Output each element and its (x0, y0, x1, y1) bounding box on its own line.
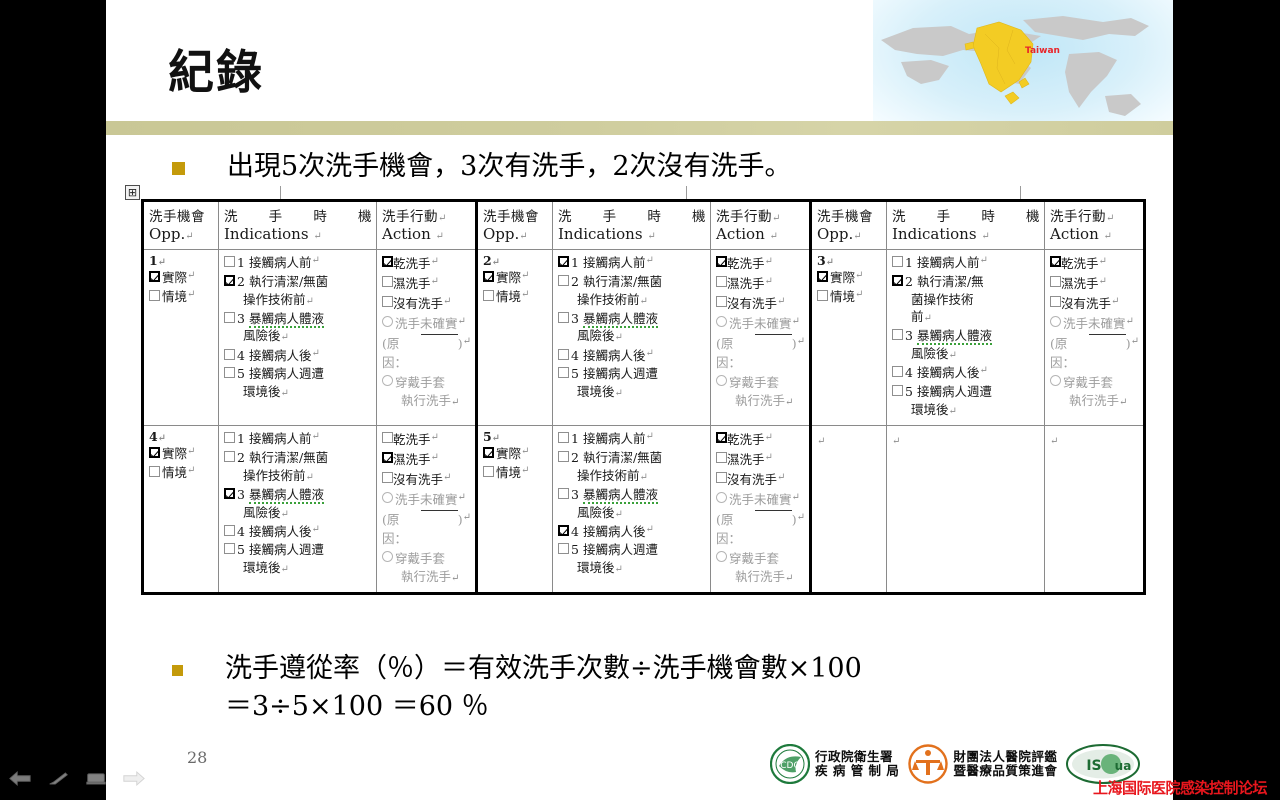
checkbox-unchecked[interactable] (1050, 276, 1061, 287)
action-option[interactable]: 濕洗手↵ (382, 274, 471, 293)
action-option[interactable]: 乾洗手↵ (1050, 254, 1139, 273)
cell-opportunity[interactable]: 2↵實際↵情境↵ (477, 250, 553, 426)
cell-indications[interactable]: 1 接觸病人前↵2 執行清潔/無菌操作技術前↵3 暴觸病人體液風險後↵4 接觸病… (219, 426, 377, 594)
action-label: 濕洗手 (727, 450, 765, 469)
pilcrow-mark: ↵ (313, 231, 321, 242)
letterbox-left (0, 0, 106, 800)
action-option[interactable]: 沒有洗手↵ (382, 470, 471, 489)
indication-option[interactable]: 2 執行清潔/無菌 (224, 449, 372, 467)
indication-label: 4 接觸病人後 (905, 364, 979, 382)
pilcrow-mark: ↵ (463, 510, 471, 525)
indication-label-cont: 風險後↵ (224, 504, 372, 522)
indication-label-cont: 操作技術前↵ (558, 291, 706, 309)
checkbox-checked[interactable] (224, 275, 235, 286)
checkbox-unchecked[interactable] (558, 275, 569, 286)
formula-line-2: ＝3÷5×100 ＝60 ％ (225, 690, 862, 724)
table-row[interactable]: 4↵實際↵情境↵1 接觸病人前↵2 執行清潔/無菌操作技術前↵3 暴觸病人體液風… (143, 426, 1145, 594)
pilcrow-mark: ↵ (853, 231, 861, 242)
action-label: 沒有洗手 (393, 294, 443, 313)
indication-label-cont: 環境後↵ (892, 401, 1040, 419)
opportunity-actual[interactable]: 實際↵ (483, 269, 548, 287)
action-reason[interactable]: (原因：)↵ (716, 334, 805, 372)
indication-label-cont: 風險後↵ (892, 345, 1040, 363)
checkbox-checked[interactable] (382, 256, 393, 267)
indication-option[interactable]: 5 接觸病人週遭 (558, 365, 706, 383)
action-label: 穿戴手套 (729, 373, 779, 392)
svg-text:IS: IS (1087, 758, 1102, 774)
checkbox-unchecked[interactable] (483, 290, 494, 301)
header-indications: 洗手時機Indications ↵ (219, 201, 377, 250)
indication-option[interactable]: 3 暴觸病人體液 (892, 327, 1040, 345)
action-label: 沒有洗手 (727, 470, 777, 489)
indication-label: 1 接觸病人前 (237, 254, 311, 272)
checkbox-unchecked[interactable] (224, 312, 235, 323)
indication-option[interactable]: 3 暴觸病人體液 (224, 310, 372, 328)
svg-text:ua: ua (1115, 759, 1132, 773)
header-opportunity-cn: 洗手機會 (817, 205, 882, 225)
checkbox-unchecked[interactable] (382, 472, 393, 483)
pilcrow-mark: ↵ (187, 269, 195, 283)
action-label: 沒有洗手 (727, 294, 777, 313)
hand-hygiene-observation-table[interactable]: 洗手機會Opp.↵洗手時機Indications ↵洗手行動↵Action ↵洗… (141, 199, 1146, 595)
cell-indications[interactable]: 1 接觸病人前↵2 執行清潔/無菌操作技術前↵3 暴觸病人體液風險後↵4 接觸病… (553, 426, 711, 594)
indication-label: 2 執行清潔/無菌 (237, 273, 328, 291)
opportunity-number: 2↵ (483, 253, 548, 268)
pilcrow-mark: ↵ (158, 257, 166, 268)
cell-action[interactable]: 乾洗手↵濕洗手↵沒有洗手↵洗手未確實↵(原因：)↵穿戴手套執行洗手↵ (1045, 250, 1145, 426)
pilcrow-mark: ↵ (981, 231, 989, 242)
pilcrow-mark: ↵ (521, 464, 529, 478)
opportunity-number: 5↵ (483, 429, 548, 444)
action-label: 洗手未確實 (395, 314, 458, 333)
cell-action-empty[interactable]: ↵ (1045, 426, 1145, 594)
checkbox-unchecked[interactable] (224, 451, 235, 462)
action-label-cont: 執行洗手↵ (1050, 392, 1139, 410)
pilcrow-mark: ↵ (645, 523, 653, 537)
title-divider (106, 121, 1173, 135)
opportunity-scenario[interactable]: 情境↵ (149, 288, 214, 306)
radio-unselected[interactable] (1050, 375, 1061, 386)
checkbox-unchecked[interactable] (558, 543, 569, 554)
map-region-label: Taiwan (1025, 46, 1060, 56)
tjc-logo: 財團法人醫院評鑑 暨醫療品質策進會 (908, 744, 1057, 784)
indication-label-cont: 環境後↵ (558, 383, 706, 401)
pilcrow-mark: ↵ (645, 254, 653, 268)
action-option[interactable]: 乾洗手↵ (382, 430, 471, 449)
slide-canvas: Taiwan 紀錄 出現5次洗手機會，3次有洗手，2次沒有洗手。 ⊞ 洗手機會O… (106, 0, 1173, 800)
indication-label: 1 接觸病人前 (571, 430, 645, 448)
action-reason-prefix: (原因： (382, 334, 421, 372)
header-action-cn: 洗手行動↵ (1050, 205, 1139, 225)
pilcrow-mark: ↵ (306, 296, 314, 307)
pilcrow-mark: ↵ (521, 269, 529, 283)
header-action: 洗手行動↵Action ↵ (1045, 201, 1145, 250)
pilcrow-mark: ↵ (797, 334, 805, 349)
action-reason[interactable]: (原因：)↵ (382, 510, 471, 548)
pilcrow-mark: ↵ (311, 430, 319, 444)
checkbox-unchecked[interactable] (716, 452, 727, 463)
checkbox-unchecked[interactable] (224, 256, 235, 267)
header-opportunity-cn: 洗手機會 (483, 205, 548, 225)
opportunity-actual[interactable]: 實際↵ (149, 445, 214, 463)
table-header-row: 洗手機會Opp.↵洗手時機Indications ↵洗手行動↵Action ↵洗… (143, 201, 1145, 250)
pilcrow-mark: ↵ (521, 288, 529, 302)
radio-unselected[interactable] (716, 316, 727, 327)
pilcrow-mark: ↵ (640, 296, 648, 307)
cell-action[interactable]: 乾洗手↵濕洗手↵沒有洗手↵洗手未確實↵(原因：)↵穿戴手套執行洗手↵ (711, 426, 811, 594)
action-reason-prefix: (原因： (1050, 334, 1089, 372)
radio-unselected[interactable] (716, 375, 727, 386)
cell-indications[interactable]: 1 接觸病人前↵2 執行清潔/無菌操作技術前↵3 暴觸病人體液風險後↵4 接觸病… (553, 250, 711, 426)
checkbox-unchecked[interactable] (716, 472, 727, 483)
indication-option[interactable]: 5 接觸病人週遭 (892, 383, 1040, 401)
action-label: 洗手未確實 (729, 314, 792, 333)
opportunity-actual[interactable]: 實際↵ (149, 269, 214, 287)
pilcrow-mark: ↵ (451, 573, 459, 584)
checkbox-checked[interactable] (716, 432, 727, 443)
checkbox-checked[interactable] (224, 488, 235, 499)
indication-label: 4 接觸病人後 (237, 523, 311, 541)
cell-opportunity[interactable]: 1↵實際↵情境↵ (143, 250, 219, 426)
cell-action[interactable]: 乾洗手↵濕洗手↵沒有洗手↵洗手未確實↵(原因：)↵穿戴手套執行洗手↵ (377, 426, 477, 594)
pilcrow-mark: ↵ (855, 288, 863, 302)
pilcrow-mark: ↵ (431, 450, 439, 465)
checkbox-checked[interactable] (483, 447, 494, 458)
world-map-graphic: Taiwan (873, 0, 1173, 122)
pilcrow-mark: ↵ (817, 436, 825, 447)
opportunity-actual[interactable]: 實際↵ (483, 445, 548, 463)
header-action-en: Action ↵ (382, 225, 471, 243)
indication-label: 4 接觸病人後 (571, 523, 645, 541)
checkbox-checked[interactable] (716, 256, 727, 267)
action-option[interactable]: 濕洗手↵ (716, 450, 805, 469)
action-reason-prefix: (原因： (382, 510, 421, 548)
table-row[interactable]: 1↵實際↵情境↵1 接觸病人前↵2 執行清潔/無菌操作技術前↵3 暴觸病人體液風… (143, 250, 1145, 426)
indication-option[interactable]: 5 接觸病人週遭 (224, 365, 372, 383)
action-option[interactable]: 洗手未確實↵ (716, 314, 805, 333)
cell-indications-empty[interactable]: ↵ (887, 426, 1045, 594)
checkbox-unchecked[interactable] (224, 367, 235, 378)
action-option[interactable]: 穿戴手套 (382, 373, 471, 392)
page-title: 紀錄 (168, 36, 264, 102)
pilcrow-mark: ↵ (645, 347, 653, 361)
indication-label: 2 執行清潔/無菌 (237, 449, 328, 467)
checkbox-checked[interactable] (382, 452, 393, 463)
checkbox-unchecked[interactable] (149, 466, 160, 477)
cell-opportunity[interactable]: 5↵實際↵情境↵ (477, 426, 553, 594)
slideshow-nav[interactable] (8, 770, 146, 787)
radio-unselected[interactable] (1050, 316, 1061, 327)
opportunity-actual-label: 實際 (830, 269, 855, 287)
cell-indications[interactable]: 1 接觸病人前↵2 執行清潔/無菌操作技術前↵3 暴觸病人體液風險後↵4 接觸病… (887, 250, 1045, 426)
header-action-cn: 洗手行動↵ (716, 205, 805, 225)
cell-opportunity[interactable]: 4↵實際↵情境↵ (143, 426, 219, 594)
checkbox-unchecked[interactable] (716, 276, 727, 287)
indication-label: 3 暴觸病人體液 (571, 486, 658, 504)
header-opportunity: 洗手機會Opp.↵ (811, 201, 887, 250)
pilcrow-mark: ↵ (647, 231, 655, 242)
checkbox-checked[interactable] (149, 271, 160, 282)
svg-text:CDC: CDC (780, 761, 800, 771)
pilcrow-mark: ↵ (519, 231, 527, 242)
action-option[interactable]: 洗手未確實↵ (382, 314, 471, 333)
indication-label-cont: 操作技術前↵ (224, 291, 372, 309)
radio-unselected[interactable] (382, 375, 393, 386)
pilcrow-mark: ↵ (1099, 274, 1107, 289)
bullet-square-icon (172, 665, 183, 676)
action-option[interactable]: 穿戴手套 (716, 549, 805, 568)
action-label: 乾洗手 (1061, 254, 1099, 273)
action-option[interactable]: 乾洗手↵ (716, 254, 805, 273)
pilcrow-mark: ↵ (777, 470, 785, 485)
opportunity-scenario-label: 情境 (496, 288, 521, 306)
page-number: 28 (187, 748, 207, 767)
action-option[interactable]: 洗手未確實↵ (382, 490, 471, 509)
indication-label: 2 執行清潔/無 (905, 273, 984, 291)
checkbox-unchecked[interactable] (1050, 296, 1061, 307)
indication-label-cont: 環境後↵ (224, 559, 372, 577)
radio-unselected[interactable] (716, 492, 727, 503)
header-opportunity-cn: 洗手機會 (149, 205, 214, 225)
checkbox-unchecked[interactable] (149, 290, 160, 301)
indication-option[interactable]: 2 執行清潔/無菌 (558, 273, 706, 291)
action-option[interactable]: 濕洗手↵ (716, 274, 805, 293)
bullet-square-icon (172, 162, 185, 175)
checkbox-checked[interactable] (817, 271, 828, 282)
pilcrow-mark: ↵ (640, 472, 648, 483)
prev-arrow-icon[interactable] (8, 770, 32, 787)
header-indications-cn: 洗手時機 (224, 205, 372, 225)
action-option[interactable]: 穿戴手套 (1050, 373, 1139, 392)
action-option[interactable]: 乾洗手↵ (716, 430, 805, 449)
action-reason-blank[interactable] (755, 334, 792, 335)
checkbox-unchecked[interactable] (558, 312, 569, 323)
checkbox-unchecked[interactable] (224, 543, 235, 554)
pilcrow-mark: ↵ (949, 406, 957, 417)
indication-option[interactable]: 2 執行清潔/無菌 (224, 273, 372, 291)
checkbox-unchecked[interactable] (558, 432, 569, 443)
indication-option[interactable]: 1 接觸病人前↵ (224, 254, 372, 272)
checkbox-unchecked[interactable] (892, 366, 903, 377)
action-option[interactable]: 乾洗手↵ (382, 254, 471, 273)
cdc-logo: CDC 行政院衛生署 疾 病 管 制 局 (770, 744, 899, 784)
footer-logos: CDC 行政院衛生署 疾 病 管 制 局 財團法人醫院評鑑 暨醫療品質策進會 (770, 744, 1140, 784)
opportunity-number: 3↵ (817, 253, 882, 268)
indication-label-cont: 前↵ (892, 308, 1040, 326)
indication-label-cont: 風險後↵ (558, 327, 706, 345)
action-option[interactable]: 濕洗手↵ (1050, 274, 1139, 293)
action-option[interactable]: 洗手未確實↵ (716, 490, 805, 509)
pilcrow-mark: ↵ (431, 430, 439, 445)
indication-option[interactable]: 2 執行清潔/無 (892, 273, 1040, 291)
indication-option[interactable]: 5 接觸病人週遭 (558, 541, 706, 559)
pilcrow-mark: ↵ (492, 257, 500, 268)
pilcrow-mark: ↵ (777, 294, 785, 309)
opportunity-number: 1↵ (149, 253, 214, 268)
pilcrow-mark: ↵ (797, 510, 805, 525)
pilcrow-mark: ↵ (431, 254, 439, 269)
action-option[interactable]: 沒有洗手↵ (716, 294, 805, 313)
pilcrow-mark: ↵ (311, 347, 319, 361)
checkbox-unchecked[interactable] (224, 525, 235, 536)
checkbox-unchecked[interactable] (224, 432, 235, 443)
indication-option[interactable]: 3 暴觸病人體液 (224, 486, 372, 504)
indication-label: 5 接觸病人週遭 (571, 365, 658, 383)
slide-viewer: Taiwan 紀錄 出現5次洗手機會，3次有洗手，2次沒有洗手。 ⊞ 洗手機會O… (0, 0, 1280, 800)
pilcrow-mark: ↵ (1131, 334, 1139, 349)
checkbox-unchecked[interactable] (382, 432, 393, 443)
ruler-tick (686, 186, 687, 199)
checkbox-unchecked[interactable] (892, 385, 903, 396)
action-option[interactable]: 穿戴手套 (716, 373, 805, 392)
header-indications-cn: 洗手時機 (558, 205, 706, 225)
action-label: 穿戴手套 (1063, 373, 1113, 392)
indication-label: 5 接觸病人週遭 (905, 383, 992, 401)
indication-option[interactable]: 3 暴觸病人體液 (558, 486, 706, 504)
action-option[interactable]: 濕洗手↵ (382, 450, 471, 469)
pilcrow-mark: ↵ (765, 450, 773, 465)
action-label: 洗手未確實 (729, 490, 792, 509)
opportunity-scenario-label: 情境 (162, 288, 187, 306)
pilcrow-mark: ↵ (645, 430, 653, 444)
cell-action[interactable]: 乾洗手↵濕洗手↵沒有洗手↵洗手未確實↵(原因：)↵穿戴手套執行洗手↵ (377, 250, 477, 426)
indication-option[interactable]: 4 接觸病人後↵ (224, 523, 372, 541)
action-reason[interactable]: (原因：)↵ (382, 334, 471, 372)
opportunity-actual-label: 實際 (496, 269, 521, 287)
action-option[interactable]: 沒有洗手↵ (382, 294, 471, 313)
indication-label: 2 執行清潔/無菌 (571, 449, 662, 467)
indication-option[interactable]: 4 接觸病人後↵ (892, 364, 1040, 382)
action-option[interactable]: 沒有洗手↵ (1050, 294, 1139, 313)
header-indications-en: Indications ↵ (558, 225, 706, 243)
indication-label-cont: 環境後↵ (558, 559, 706, 577)
checkbox-checked[interactable] (1050, 256, 1061, 267)
next-arrow-icon[interactable] (122, 770, 146, 787)
action-option[interactable]: 穿戴手套 (382, 549, 471, 568)
action-reason-blank[interactable] (1089, 334, 1126, 335)
checkbox-unchecked[interactable] (716, 296, 727, 307)
checkbox-unchecked[interactable] (558, 451, 569, 462)
action-reason-blank[interactable] (755, 510, 792, 511)
pilcrow-mark: ↵ (492, 433, 500, 444)
pen-icon[interactable] (46, 770, 70, 787)
header-opportunity: 洗手機會Opp.↵ (143, 201, 219, 250)
radio-unselected[interactable] (382, 492, 393, 503)
screen-icon[interactable] (84, 770, 108, 787)
checkbox-checked[interactable] (558, 256, 569, 267)
indication-option[interactable]: 1 接觸病人前↵ (224, 430, 372, 448)
action-reason-prefix: (原因： (716, 334, 755, 372)
pilcrow-mark: ↵ (924, 313, 932, 324)
pilcrow-mark: ↵ (855, 269, 863, 283)
bullet-statement: 出現5次洗手機會，3次有洗手，2次沒有洗手。 (172, 150, 792, 184)
radio-unselected[interactable] (382, 551, 393, 562)
checkbox-unchecked[interactable] (558, 488, 569, 499)
checkbox-unchecked[interactable] (558, 349, 569, 360)
pilcrow-mark: ↵ (1104, 231, 1112, 242)
action-reason-prefix: (原因： (716, 510, 755, 548)
cdc-logo-line2: 疾 病 管 制 局 (815, 764, 899, 778)
pilcrow-mark: ↵ (431, 274, 439, 289)
action-reason-blank[interactable] (421, 510, 458, 511)
table-move-handle[interactable]: ⊞ (125, 185, 140, 200)
cell-opportunity[interactable]: 3↵實際↵情境↵ (811, 250, 887, 426)
header-opportunity-en: Opp.↵ (149, 225, 214, 243)
header-indications-en: Indications ↵ (224, 225, 372, 243)
checkbox-unchecked[interactable] (483, 466, 494, 477)
indication-option[interactable]: 1 接觸病人前↵ (892, 254, 1040, 272)
indication-option[interactable]: 5 接觸病人週遭 (224, 541, 372, 559)
letterbox-right (1173, 0, 1280, 800)
checkbox-checked[interactable] (483, 271, 494, 282)
checkbox-unchecked[interactable] (382, 296, 393, 307)
checkbox-unchecked[interactable] (892, 329, 903, 340)
action-reason-blank[interactable] (421, 334, 458, 335)
checkbox-checked[interactable] (149, 447, 160, 458)
bullet-statement-text: 出現5次洗手機會，3次有洗手，2次沒有洗手。 (227, 150, 792, 184)
pilcrow-mark: ↵ (438, 213, 447, 224)
indication-label: 1 接觸病人前 (237, 430, 311, 448)
pilcrow-mark: ↵ (451, 397, 459, 408)
radio-unselected[interactable] (716, 551, 727, 562)
indication-option[interactable]: 4 接觸病人後↵ (224, 347, 372, 365)
opportunity-actual[interactable]: 實際↵ (817, 269, 882, 287)
opportunity-scenario[interactable]: 情境↵ (149, 464, 214, 482)
cell-action[interactable]: 乾洗手↵濕洗手↵沒有洗手↵洗手未確實↵(原因：)↵穿戴手套執行洗手↵ (711, 250, 811, 426)
radio-unselected[interactable] (382, 316, 393, 327)
pilcrow-mark: ↵ (281, 509, 289, 520)
cell-opportunity-empty[interactable]: ↵ (811, 426, 887, 594)
indication-option[interactable]: 3 暴觸病人體液 (558, 310, 706, 328)
indication-option[interactable]: 1 接觸病人前↵ (558, 430, 706, 448)
compliance-formula: 洗手遵從率（％）＝有效洗手次數÷洗手機會數×100 ＝3÷5×100 ＝60 ％ (172, 652, 862, 724)
header-opportunity-en: Opp.↵ (817, 225, 882, 243)
checkbox-checked[interactable] (892, 275, 903, 286)
action-label-cont: 執行洗手↵ (382, 392, 471, 410)
indication-label: 5 接觸病人週遭 (237, 541, 324, 559)
indication-label: 3 暴觸病人體液 (237, 486, 324, 504)
opportunity-scenario[interactable]: 情境↵ (483, 464, 548, 482)
indication-label: 1 接觸病人前 (905, 254, 979, 272)
opportunity-scenario[interactable]: 情境↵ (817, 288, 882, 306)
opportunity-actual-label: 實際 (162, 445, 187, 463)
checkbox-unchecked[interactable] (892, 256, 903, 267)
action-option[interactable]: 沒有洗手↵ (716, 470, 805, 489)
pilcrow-mark: ↵ (1106, 213, 1115, 224)
indication-option[interactable]: 4 接觸病人後↵ (558, 523, 706, 541)
tjc-logo-line2: 暨醫療品質策進會 (953, 764, 1057, 778)
indication-label: 3 暴觸病人體液 (237, 310, 324, 328)
checkbox-unchecked[interactable] (224, 349, 235, 360)
action-label: 洗手未確實 (1063, 314, 1126, 333)
indication-option[interactable]: 4 接觸病人後↵ (558, 347, 706, 365)
cell-indications[interactable]: 1 接觸病人前↵2 執行清潔/無菌操作技術前↵3 暴觸病人體液風險後↵4 接觸病… (219, 250, 377, 426)
checkbox-unchecked[interactable] (382, 276, 393, 287)
checkbox-unchecked[interactable] (558, 367, 569, 378)
pilcrow-mark: ↵ (1111, 294, 1119, 309)
world-map-svg (873, 0, 1173, 122)
checkbox-unchecked[interactable] (817, 290, 828, 301)
opportunity-scenario[interactable]: 情境↵ (483, 288, 548, 306)
checkbox-checked[interactable] (558, 525, 569, 536)
indication-option[interactable]: 1 接觸病人前↵ (558, 254, 706, 272)
action-reason[interactable]: (原因：)↵ (1050, 334, 1139, 372)
indication-label: 4 接觸病人後 (237, 347, 311, 365)
action-option[interactable]: 洗手未確實↵ (1050, 314, 1139, 333)
forum-watermark: 上海国际医院感染控制论坛 (1093, 777, 1267, 798)
action-reason[interactable]: (原因：)↵ (716, 510, 805, 548)
indication-option[interactable]: 2 執行清潔/無菌 (558, 449, 706, 467)
